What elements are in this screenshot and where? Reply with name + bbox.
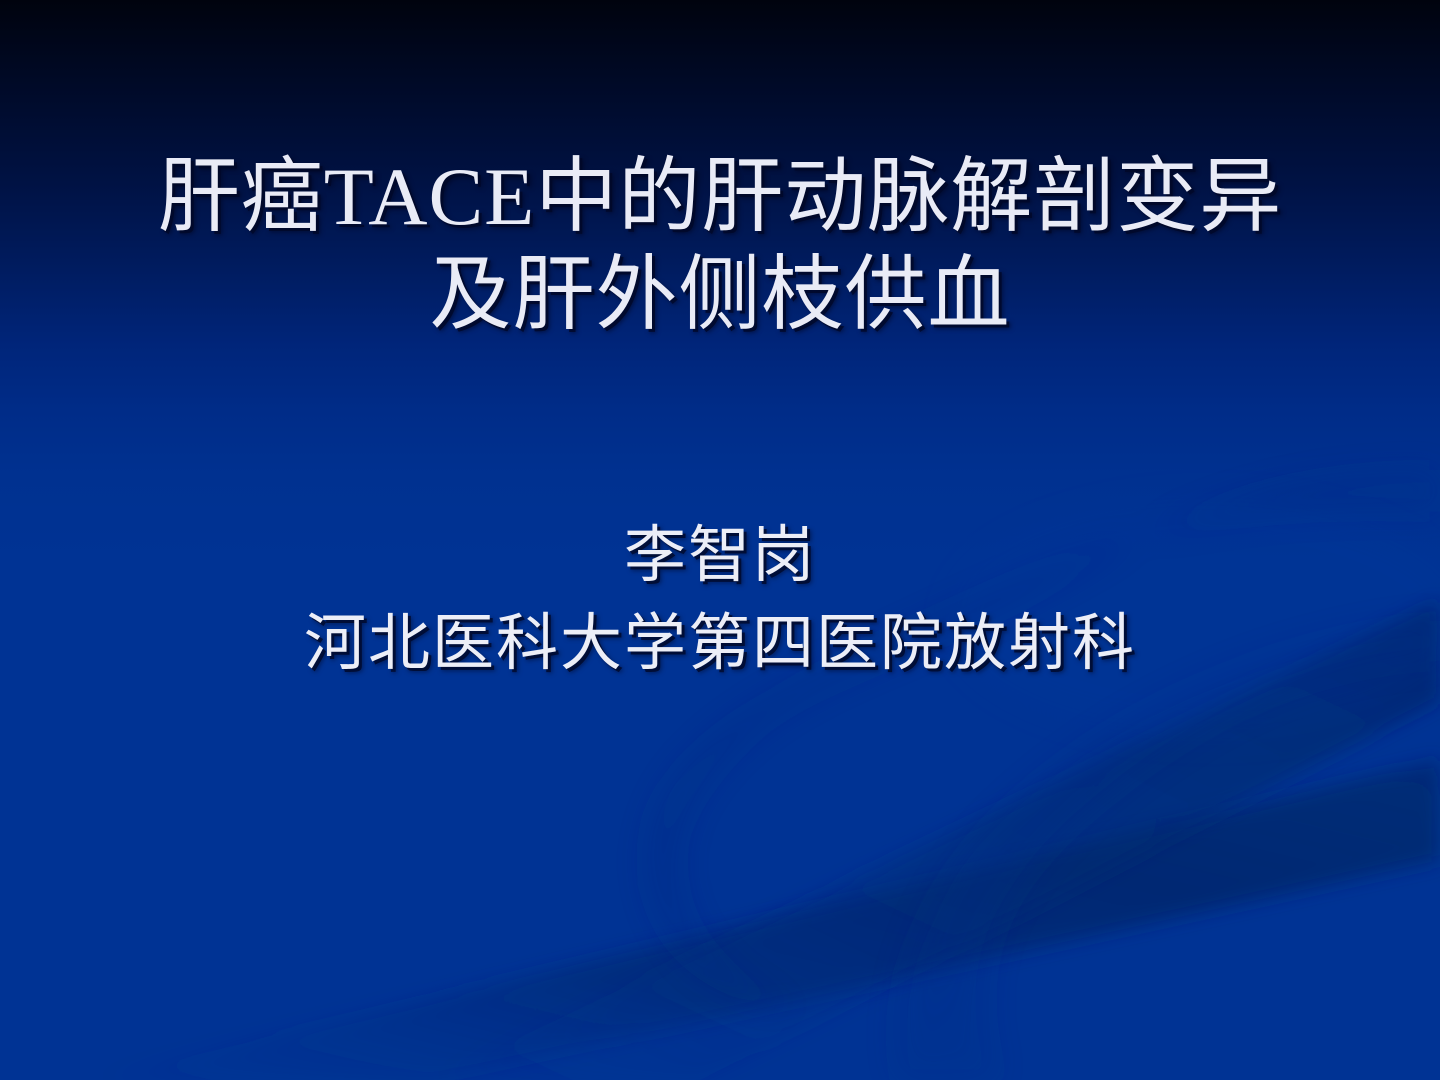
slide-subtitle: 李智岗 河北医科大学第四医院放射科: [0, 512, 1440, 688]
subtitle-affiliation: 河北医科大学第四医院放射科: [40, 600, 1400, 688]
title-line-2: 及肝外侧枝供血: [40, 246, 1400, 344]
ribbon-swirl-lower: [897, 620, 1440, 1080]
title-line-1: 肝癌TACE中的肝动脉解剖变异: [40, 148, 1400, 246]
subtitle-author-name: 李智岗: [40, 512, 1400, 600]
presentation-slide: 肝癌TACE中的肝动脉解剖变异 及肝外侧枝供血 李智岗 河北医科大学第四医院放射…: [0, 0, 1440, 1080]
ribbon-band-lower: [90, 760, 1440, 1080]
slide-title: 肝癌TACE中的肝动脉解剖变异 及肝外侧枝供血: [0, 148, 1440, 344]
